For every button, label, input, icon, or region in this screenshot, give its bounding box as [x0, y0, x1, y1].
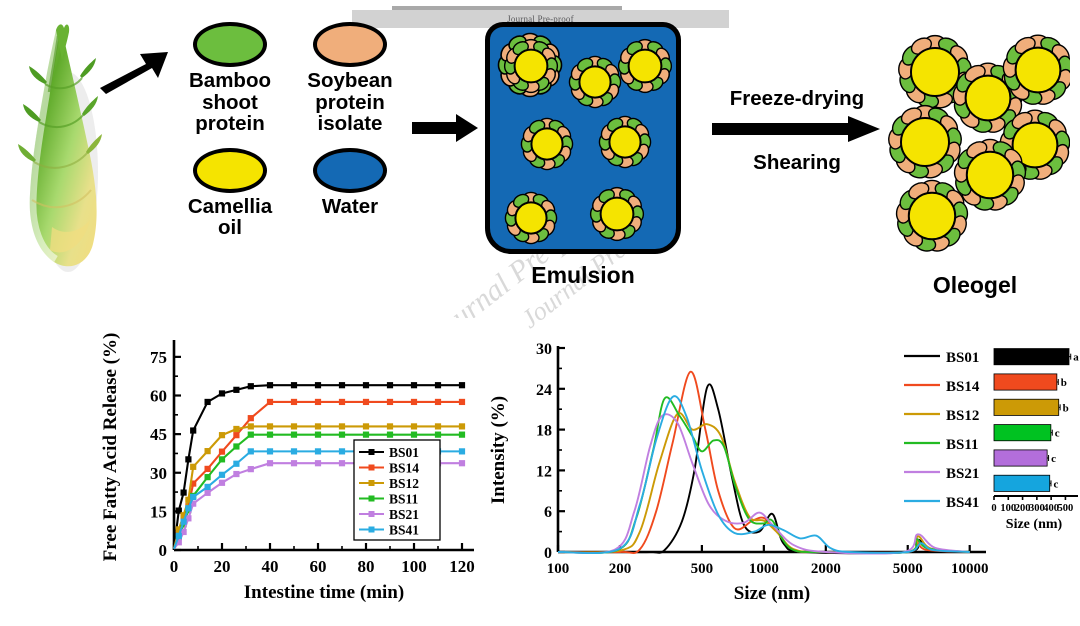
ing-line: protein	[307, 93, 392, 114]
chart-legend: BS01BS14BS12BS11BS21BS41	[354, 440, 440, 540]
y-tick-label: 0	[159, 541, 168, 560]
process-label-top: Freeze-drying	[712, 88, 882, 111]
data-point	[267, 399, 273, 405]
data-point	[435, 382, 441, 388]
data-point	[233, 461, 239, 467]
y-tick-label: 30	[150, 464, 167, 483]
legend-label: BS11	[389, 492, 419, 507]
bar-annotation: c	[1051, 453, 1056, 465]
data-point	[339, 399, 345, 405]
bar-BS41	[994, 475, 1050, 491]
legend-label: BS12	[389, 476, 419, 491]
ingredient-legend: Bamboo shoot protein Soybean protein iso…	[170, 22, 410, 240]
x-tick-label: 10000	[951, 561, 989, 577]
data-point	[233, 432, 239, 438]
legend-label: BS01	[389, 445, 419, 460]
emulsion-vessel	[485, 22, 681, 254]
data-point	[291, 399, 297, 405]
emulsion-caption: Emulsion	[485, 262, 681, 289]
data-point	[205, 399, 211, 405]
bar-BS14	[994, 374, 1057, 390]
bar-BS01	[994, 349, 1069, 365]
ing-line: Water	[322, 197, 378, 218]
mean-size-bar-chart: abbccc0100200300400500Size (nm)	[991, 349, 1079, 532]
data-point	[233, 387, 239, 393]
data-point	[219, 390, 225, 396]
y-axis-label: Free Fatty Acid Release (%)	[100, 333, 121, 562]
data-point	[205, 448, 211, 454]
x-tick-label: 120	[449, 557, 475, 576]
data-point	[411, 432, 417, 438]
data-point	[315, 448, 321, 454]
data-point	[339, 460, 345, 466]
data-point	[459, 423, 465, 429]
bar-BS12	[994, 399, 1059, 415]
x-tick-label: 60	[310, 557, 327, 576]
data-point	[205, 490, 211, 496]
x-tick-label: 2000	[811, 561, 841, 577]
camellia-oil-swatch	[193, 148, 267, 193]
series-BS11	[558, 397, 970, 553]
data-point	[435, 432, 441, 438]
data-point	[233, 426, 239, 432]
data-point	[339, 432, 345, 438]
x-tick-label: 500	[691, 561, 714, 577]
ing-line: isolate	[307, 114, 392, 135]
water-swatch	[313, 148, 387, 193]
bar-BS11	[994, 425, 1051, 441]
series-BS21	[558, 414, 970, 553]
data-point	[315, 399, 321, 405]
data-point	[185, 456, 191, 462]
ingredient-camellia-oil: Camellia oil	[170, 148, 290, 240]
data-point	[291, 382, 297, 388]
soybean-protein-isolate-swatch	[313, 22, 387, 67]
data-point	[219, 480, 225, 486]
legend-label: BS14	[389, 461, 419, 476]
data-point	[459, 448, 465, 454]
particle-size-chart: 061218243010020050010002000500010000Size…	[486, 330, 1080, 620]
x-tick-label: 100	[401, 557, 427, 576]
data-point	[185, 505, 191, 511]
ing-line: protein	[189, 114, 271, 135]
data-point	[459, 460, 465, 466]
series-BS12	[558, 413, 970, 553]
y-tick-label: 30	[536, 341, 552, 358]
data-point	[387, 432, 393, 438]
x-tick-label: 0	[170, 557, 179, 576]
data-point	[315, 382, 321, 388]
ing-line: Camellia	[188, 197, 272, 218]
data-point	[205, 484, 211, 490]
data-point	[248, 432, 254, 438]
bar-x-tick: 0	[991, 503, 996, 514]
data-point	[267, 432, 273, 438]
data-point	[181, 489, 187, 495]
bar-BS21	[994, 450, 1047, 466]
data-point	[363, 423, 369, 429]
data-point	[181, 519, 187, 525]
ingredient-water: Water	[290, 148, 410, 240]
data-point	[411, 382, 417, 388]
data-point	[233, 471, 239, 477]
data-point	[315, 432, 321, 438]
data-point	[411, 399, 417, 405]
data-point	[248, 466, 254, 472]
series-BS01	[558, 384, 970, 553]
arrow-ingredients-to-emulsion	[412, 112, 480, 146]
data-point	[190, 464, 196, 470]
arrow-freeze-drying	[712, 116, 882, 142]
x-tick-label: 80	[358, 557, 375, 576]
ingredient-bamboo-shoot-protein: Bamboo shoot protein	[170, 22, 290, 136]
data-point	[233, 443, 239, 449]
legend-label: BS14	[946, 379, 980, 395]
legend-label: BS12	[946, 408, 979, 424]
x-axis-label: Intestine time (min)	[244, 582, 404, 603]
legend-label: BS11	[946, 437, 979, 453]
data-point	[190, 494, 196, 500]
data-point	[248, 415, 254, 421]
legend-label: BS21	[946, 466, 979, 482]
y-tick-label: 15	[150, 502, 167, 521]
series-BS41	[558, 396, 970, 553]
data-point	[459, 399, 465, 405]
x-axis-label: Size (nm)	[734, 583, 811, 604]
graphical-abstract: Journal Pre-proof Journal Pre-proof Jour…	[0, 0, 1080, 626]
x-tick-label: 100	[547, 561, 570, 577]
arrow-bamboo-to-ingredients	[96, 48, 172, 98]
data-point	[219, 472, 225, 478]
y-tick-label: 45	[150, 425, 167, 444]
y-tick-label: 60	[150, 387, 167, 406]
data-point	[459, 432, 465, 438]
data-point	[315, 460, 321, 466]
x-tick-label: 20	[214, 557, 231, 576]
data-point	[459, 382, 465, 388]
data-point	[291, 423, 297, 429]
bar-annotation: c	[1054, 478, 1059, 490]
y-tick-label: 75	[150, 348, 167, 367]
bamboo-shoot-protein-swatch	[193, 22, 267, 67]
data-point	[315, 423, 321, 429]
legend-label: BS41	[389, 523, 419, 538]
ffa-release-chart: 01530456075020406080100120Intestine time…	[96, 318, 486, 618]
process-label-bottom: Shearing	[712, 152, 882, 175]
data-point	[363, 432, 369, 438]
ing-line: oil	[188, 218, 272, 239]
y-tick-label: 6	[544, 504, 552, 521]
bar-x-tick: 500	[1058, 503, 1074, 514]
x-tick-label: 200	[609, 561, 632, 577]
data-point	[435, 399, 441, 405]
y-tick-label: 18	[536, 423, 552, 440]
data-point	[205, 474, 211, 480]
y-tick-label: 0	[544, 545, 552, 562]
data-point	[387, 423, 393, 429]
emulsion-droplet	[887, 105, 962, 180]
data-point	[219, 432, 225, 438]
data-point	[291, 432, 297, 438]
data-point	[411, 423, 417, 429]
x-tick-label: 1000	[749, 561, 779, 577]
data-point	[291, 460, 297, 466]
data-point	[267, 382, 273, 388]
legend-label: BS21	[389, 507, 419, 522]
oleogel-caption: Oleogel	[880, 272, 1070, 299]
legend-label: BS01	[946, 350, 979, 366]
data-point	[435, 423, 441, 429]
bar-annotation: a	[1073, 352, 1079, 364]
data-point	[248, 448, 254, 454]
emulsion-droplets	[490, 27, 676, 249]
ing-line: Soybean	[307, 71, 392, 92]
ing-line: shoot	[189, 93, 271, 114]
data-point	[248, 423, 254, 429]
x-tick-label: 40	[262, 557, 279, 576]
data-point	[387, 382, 393, 388]
data-point	[267, 423, 273, 429]
data-point	[176, 533, 182, 539]
data-point	[363, 382, 369, 388]
data-point	[248, 383, 254, 389]
bar-x-axis-label: Size (nm)	[1006, 517, 1063, 532]
data-point	[219, 449, 225, 455]
oleogel-droplet-cluster	[880, 20, 1070, 270]
process-step: Freeze-drying Shearing	[712, 88, 882, 174]
ing-line: Bamboo	[189, 71, 271, 92]
data-point	[339, 448, 345, 454]
data-point	[219, 456, 225, 462]
data-point	[267, 460, 273, 466]
data-point	[190, 427, 196, 433]
legend-label: BS41	[946, 495, 979, 511]
data-point	[205, 466, 211, 472]
x-tick-label: 5000	[893, 561, 923, 577]
bar-annotation: c	[1055, 428, 1060, 440]
y-axis-label: Intensity (%)	[488, 396, 509, 504]
data-point	[267, 448, 273, 454]
data-point	[387, 399, 393, 405]
data-point	[339, 382, 345, 388]
y-tick-label: 12	[536, 463, 552, 480]
bar-annotation: b	[1061, 377, 1067, 389]
data-point	[363, 399, 369, 405]
data-point	[291, 448, 297, 454]
ingredient-soybean-protein-isolate: Soybean protein isolate	[290, 22, 410, 136]
data-point	[339, 423, 345, 429]
bar-annotation: b	[1063, 402, 1069, 414]
y-tick-label: 24	[536, 382, 552, 399]
